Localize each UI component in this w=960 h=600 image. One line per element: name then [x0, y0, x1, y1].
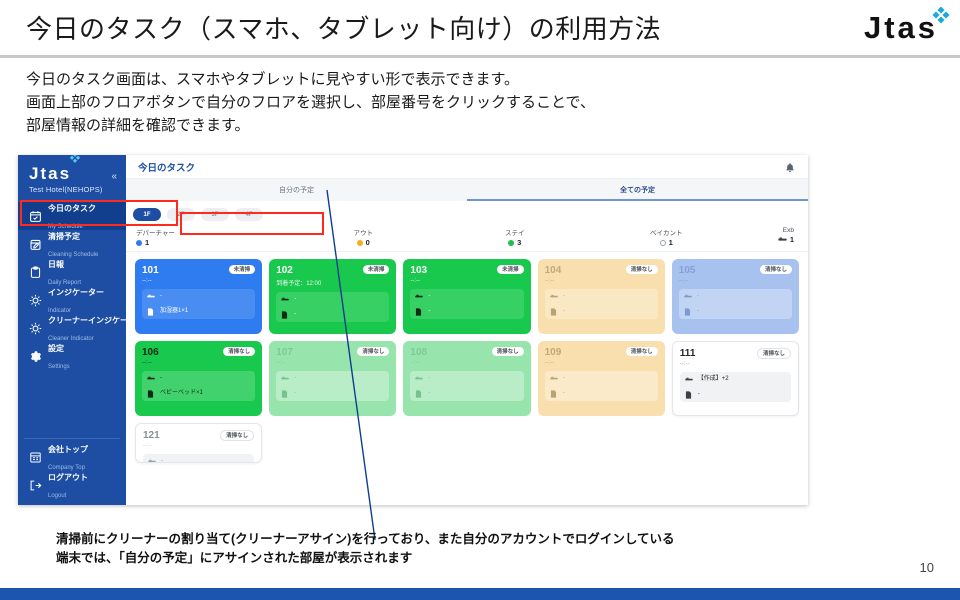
room-bed-row: 【作成】+2 [680, 372, 791, 387]
bed-icon [147, 375, 155, 383]
status-summary: デパーチャー 1 アウト 0 ステイ [126, 226, 808, 252]
room-grid: 101 未清掃 --:-- - 加湿器1×1 [126, 252, 808, 463]
sidebar-collapse-icon[interactable]: « [111, 171, 117, 182]
room-amenity-text: - [563, 308, 565, 315]
room-amenity-text: - [428, 308, 430, 315]
room-amenity-row: - [276, 386, 389, 401]
status-dot [660, 240, 666, 246]
sidebar-logo-text: Jtas [29, 164, 71, 183]
room-bed-row: - [545, 371, 658, 386]
stat-vacant: ベイカント 1 [591, 227, 743, 247]
status-badge: 清掃なし [492, 347, 524, 356]
sidebar-item-settings[interactable]: 設定 Settings [18, 342, 126, 370]
stat-value: 0 [366, 238, 370, 247]
status-badge: 清掃なし [357, 347, 389, 356]
stat-value-wrap: 1 [136, 238, 288, 247]
gear-icon [28, 349, 42, 363]
sidebar-nav: 今日のタスク My Schedule 清掃予定 Cleaning Schedul… [18, 202, 126, 370]
status-badge: 清掃なし [757, 348, 791, 359]
sidebar-item-indicator[interactable]: インジケーター Indicator [18, 286, 126, 314]
room-card-header: 111 清掃なし [680, 348, 791, 359]
sidebar-hotel-name: Test Hotel(NEHOPS) [18, 184, 126, 194]
document-icon [281, 390, 289, 398]
room-card-106[interactable]: 106 清掃なし --:-- - ベビーベッド×1 [135, 341, 262, 416]
room-card-header: 102 未清掃 [276, 265, 389, 276]
tab-my-schedule[interactable]: 自分の予定 [126, 179, 467, 201]
stat-out: アウト 0 [288, 227, 440, 247]
stat-value-wrap: 3 [439, 238, 591, 247]
room-amenity-row: - [410, 386, 523, 401]
stat-value: 1 [790, 235, 794, 244]
room-bed-text: - [563, 293, 565, 300]
sidebar-item-label: ログアウト Logout [48, 468, 88, 502]
room-detail-rows: - [143, 454, 254, 463]
room-bed-text: - [428, 375, 430, 382]
document-icon [147, 390, 155, 398]
bed-icon [281, 375, 289, 383]
room-amenity-row: - [679, 304, 792, 319]
room-card-121[interactable]: 121 清掃なし --:-- - [135, 423, 262, 463]
room-bed-text: 【作成】+2 [698, 376, 729, 383]
room-bed-text: - [294, 296, 296, 303]
document-icon [281, 311, 289, 319]
room-card-header: 107 清掃なし [276, 347, 389, 358]
room-time: --:-- [679, 278, 792, 284]
room-time: 到着予定：12:00 [276, 278, 389, 287]
room-detail-rows: - - [545, 289, 658, 319]
status-badge: 未清掃 [363, 265, 390, 274]
status-badge: 未清掃 [497, 265, 524, 274]
room-amenity-row: 加湿器1×1 [142, 304, 255, 319]
bell-icon[interactable] [784, 161, 796, 173]
app-topbar: 今日のタスク [126, 155, 808, 179]
room-detail-rows: - ベビーベッド×1 [142, 371, 255, 401]
room-amenity-text: - [428, 390, 430, 397]
floor-button-3f[interactable]: 3F [201, 208, 229, 221]
stat-label: アウト [288, 227, 440, 237]
room-card-header: 103 未清掃 [410, 265, 523, 276]
bed-icon [550, 293, 558, 301]
room-card-header: 109 清掃なし [545, 347, 658, 358]
room-amenity-text: ベビーベッド×1 [160, 390, 203, 397]
room-bed-text: - [563, 375, 565, 382]
status-badge: 未清掃 [229, 265, 256, 274]
sidebar-item-ja: 日報 [48, 260, 64, 269]
floor-button-4f[interactable]: 4F [235, 208, 263, 221]
bed-icon [415, 293, 423, 301]
room-amenity-text: - [563, 390, 565, 397]
document-icon [685, 391, 693, 399]
room-number: 101 [142, 265, 159, 276]
stat-value: 3 [517, 238, 521, 247]
sidebar-item-en: Logout [48, 493, 66, 499]
room-card-header: 108 清掃なし [410, 347, 523, 358]
bed-icon [281, 296, 289, 304]
bed-icon [685, 376, 693, 384]
footer-bar [0, 588, 960, 600]
sidebar-item-daily-report[interactable]: 日報 Daily Report [18, 258, 126, 286]
status-badge: 清掃なし [626, 347, 658, 356]
room-card-104[interactable]: 104 清掃なし --:-- - - [538, 259, 665, 334]
room-bed-row: - [410, 289, 523, 304]
room-time: --:-- [142, 278, 255, 284]
room-amenity-row: ベビーベッド×1 [142, 386, 255, 401]
room-amenity-text: - [697, 308, 699, 315]
room-card-101[interactable]: 101 未清掃 --:-- - 加湿器1×1 [135, 259, 262, 334]
sidebar-item-company-top[interactable]: 会社トップ Company Top [18, 443, 126, 471]
floor-selector: 1F 2F 3F 4F [126, 201, 808, 226]
stat-value-wrap: 1 [742, 235, 794, 244]
room-bed-text: - [160, 293, 162, 300]
room-detail-rows: - - [276, 292, 389, 322]
sidebar-bottom-nav: 会社トップ Company Top ログアウト Logout [18, 438, 126, 499]
room-card-header: 105 清掃なし [679, 265, 792, 276]
sidebar-item-my-schedule[interactable]: 今日のタスク My Schedule [18, 202, 126, 230]
room-amenity-text: - [698, 391, 700, 398]
sidebar-logo: Jtas [18, 155, 71, 184]
intro-line-2: 画面上部のフロアボタンで自分のフロアを選択し、部屋番号をクリックすることで、 [26, 91, 595, 114]
room-amenity-row: - [680, 387, 791, 402]
document-icon [415, 308, 423, 316]
bed-icon [415, 375, 423, 383]
stat-value: 1 [145, 238, 149, 247]
sidebar-item-cleaner-indicator[interactable]: クリーナーインジケーター Cleaner Indicator [18, 314, 126, 342]
room-card-105[interactable]: 105 清掃なし --:-- - - [672, 259, 799, 334]
room-bed-row: - [142, 371, 255, 386]
sidebar-item-ja: ログアウト [48, 473, 88, 482]
document-icon [415, 390, 423, 398]
stat-label: ステイ [439, 227, 591, 237]
caption-line-2: 端末では、「自分の予定」にアサインされた部屋が表示されます [56, 549, 674, 568]
status-dot [136, 240, 142, 246]
document-icon [550, 308, 558, 316]
room-number: 105 [679, 265, 696, 276]
room-number: 102 [276, 265, 293, 276]
room-number: 104 [545, 265, 562, 276]
room-time: --:-- [410, 360, 523, 366]
jtas-logo: Jtas [864, 10, 938, 46]
sidebar-item-ja: 設定 [48, 344, 64, 353]
sidebar-item-logout[interactable]: ログアウト Logout [18, 471, 126, 499]
room-number: 106 [142, 347, 159, 358]
room-bed-row: - [545, 289, 658, 304]
stat-label: Exb [742, 227, 794, 234]
room-amenity-row: - [276, 307, 389, 322]
room-bed-row: - [679, 289, 792, 304]
bed-icon [550, 375, 558, 383]
status-dot [357, 240, 363, 246]
jtas-diamond-icon [931, 7, 951, 27]
room-bed-row: - [410, 371, 523, 386]
sidebar-item-ja: 会社トップ [48, 445, 88, 454]
document-icon [147, 308, 155, 316]
bed-icon [148, 458, 156, 463]
room-card-header: 106 清掃なし [142, 347, 255, 358]
status-dot [508, 240, 514, 246]
room-time: --:-- [142, 360, 255, 366]
room-bed-text: - [428, 293, 430, 300]
intro-line-1: 今日のタスク画面は、スマホやタブレットに見やすい形で表示できます。 [26, 68, 595, 91]
status-badge: 清掃なし [760, 265, 792, 274]
room-number: 103 [410, 265, 427, 276]
room-number: 111 [680, 348, 696, 359]
stat-value-wrap: 0 [288, 238, 440, 247]
sidebar-item-en: Settings [48, 364, 70, 370]
room-bed-text: - [161, 458, 163, 463]
room-amenity-row: - [545, 304, 658, 319]
sidebar-item-ja: インジケーター [48, 288, 104, 297]
room-amenity-text: 加湿器1×1 [160, 308, 188, 315]
bed-icon [147, 293, 155, 301]
status-badge: 清掃なし [223, 347, 255, 356]
room-amenity-row: - [545, 386, 658, 401]
room-card-102[interactable]: 102 未清掃 到着予定：12:00 - - [269, 259, 396, 334]
room-detail-rows: - - [410, 289, 523, 319]
room-number: 121 [143, 430, 160, 441]
page-title: 今日のタスク（スマホ、タブレット向け）の利用方法 [26, 9, 661, 46]
app-sidebar: Jtas « Test Hotel(NEHOPS) [18, 155, 126, 505]
caption-text: 清掃前にクリーナーの割り当て(クリーナーアサイン)を行っており、また自分のアカウ… [56, 530, 674, 568]
room-time: --:-- [143, 443, 254, 449]
room-detail-rows: - - [410, 371, 523, 401]
room-bed-text: - [160, 375, 162, 382]
stat-exb: Exb 1 [742, 227, 798, 247]
sidebar-item-cleaning-schedule[interactable]: 清掃予定 Cleaning Schedule [18, 230, 126, 258]
room-bed-row: - [276, 292, 389, 307]
header-divider [0, 55, 960, 58]
stat-label: ベイカント [591, 227, 743, 237]
room-amenity-row: - [410, 304, 523, 319]
room-card-header: 121 清掃なし [143, 430, 254, 441]
app-screenshot: Jtas « Test Hotel(NEHOPS) [18, 155, 808, 505]
bed-icon [684, 293, 692, 301]
room-bed-row: - [276, 371, 389, 386]
app-topbar-title: 今日のタスク [138, 160, 195, 174]
slide: 今日のタスク（スマホ、タブレット向け）の利用方法 Jtas 今日のタスク画面は、… [0, 0, 960, 600]
sidebar-divider [24, 438, 120, 439]
room-detail-rows: - - [276, 371, 389, 401]
room-bed-row: - [143, 454, 254, 463]
building-icon [28, 450, 42, 464]
sidebar-item-ja: 今日のタスク [48, 204, 96, 213]
room-bed-text: - [294, 375, 296, 382]
room-detail-rows: 【作成】+2 - [680, 372, 791, 402]
status-badge: 清掃なし [626, 265, 658, 274]
sidebar-item-label: 設定 Settings [48, 339, 70, 373]
floor-button-2f[interactable]: 2F [167, 208, 195, 221]
stat-value: 1 [669, 238, 673, 247]
sidebar-diamond-icon [69, 155, 81, 165]
room-time: --:-- [545, 360, 658, 366]
room-number: 108 [410, 347, 427, 358]
intro-line-3: 部屋情報の詳細を確認できます。 [26, 114, 595, 137]
room-bed-text: - [697, 293, 699, 300]
calendar-check-icon [28, 209, 42, 223]
document-icon [550, 390, 558, 398]
room-card-107[interactable]: 107 清掃なし --:-- - - [269, 341, 396, 416]
brightness-icon [28, 293, 42, 307]
sidebar-item-ja: 清掃予定 [48, 232, 80, 241]
room-card-header: 104 清掃なし [545, 265, 658, 276]
room-amenity-text: - [294, 390, 296, 397]
stat-stay: ステイ 3 [439, 227, 591, 247]
room-number: 107 [276, 347, 293, 358]
room-bed-row: - [142, 289, 255, 304]
room-time: --:-- [680, 361, 791, 367]
room-number: 109 [545, 347, 562, 358]
app-main: 今日のタスク 自分の予定 全ての予定 1F 2F 3F 4F デパーチ [126, 155, 808, 505]
logout-icon [28, 478, 42, 492]
tab-all-schedule[interactable]: 全ての予定 [467, 179, 808, 201]
clipboard-icon [28, 265, 42, 279]
room-detail-rows: - - [679, 289, 792, 319]
floor-button-1f[interactable]: 1F [133, 208, 161, 221]
stat-departure: デパーチャー 1 [136, 227, 288, 247]
brightness-icon [28, 321, 42, 335]
stat-label: デパーチャー [136, 227, 288, 237]
stat-value-wrap: 1 [591, 238, 743, 247]
room-card-111[interactable]: 111 清掃なし --:-- 【作成】+2 - [672, 341, 799, 416]
caption-line-1: 清掃前にクリーナーの割り当て(クリーナーアサイン)を行っており、また自分のアカウ… [56, 530, 674, 549]
room-time: --:-- [276, 360, 389, 366]
clipboard-edit-icon [28, 237, 42, 251]
page-number: 10 [920, 560, 934, 575]
status-badge: 清掃なし [220, 430, 254, 441]
room-amenity-text: - [294, 311, 296, 318]
room-card-header: 101 未清掃 [142, 265, 255, 276]
app-tabs: 自分の予定 全ての予定 [126, 179, 808, 201]
room-detail-rows: - - [545, 371, 658, 401]
room-card-103[interactable]: 103 未清掃 --:-- - - [403, 259, 530, 334]
room-time: --:-- [545, 278, 658, 284]
room-detail-rows: - 加湿器1×1 [142, 289, 255, 319]
room-time: --:-- [410, 278, 523, 284]
jtas-logo-text: Jtas [864, 10, 938, 45]
document-icon [684, 308, 692, 316]
room-card-109[interactable]: 109 清掃なし --:-- - - [538, 341, 665, 416]
bed-icon [778, 235, 787, 244]
intro-paragraph: 今日のタスク画面は、スマホやタブレットに見やすい形で表示できます。 画面上部のフ… [26, 68, 595, 137]
room-card-108[interactable]: 108 清掃なし --:-- - - [403, 341, 530, 416]
